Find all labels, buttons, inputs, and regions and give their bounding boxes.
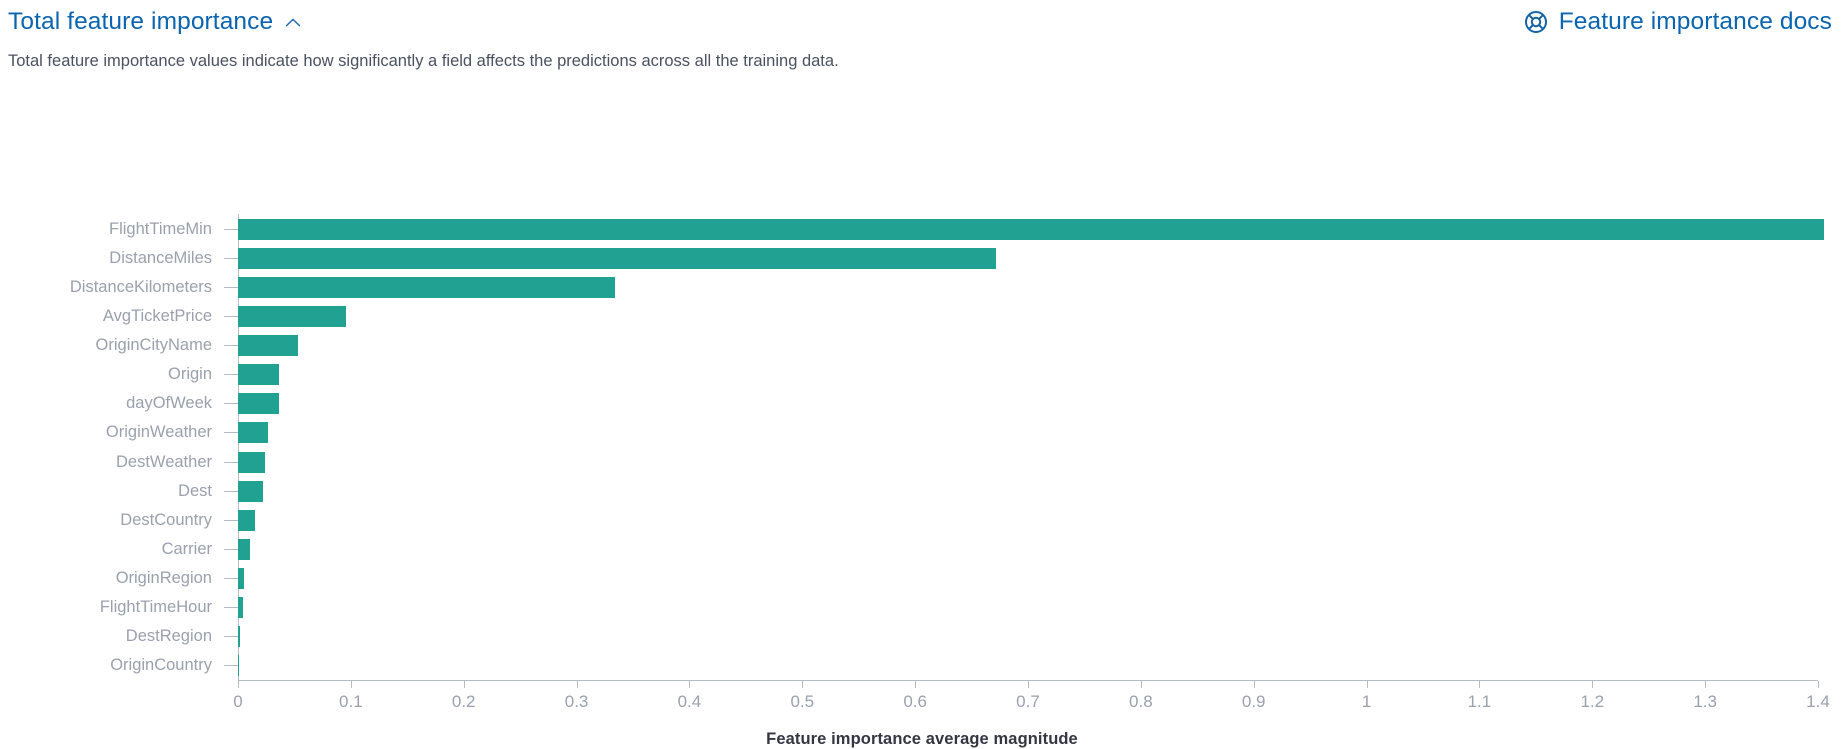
lifebuoy-icon (1524, 10, 1548, 34)
x-axis-tick-label: 0.1 (339, 692, 363, 712)
bar-row[interactable] (238, 331, 1818, 360)
y-axis-tick (224, 374, 238, 375)
y-axis-label: Origin (0, 365, 212, 383)
panel-description: Total feature importance values indicate… (0, 38, 1844, 72)
y-axis-label: DistanceKilometers (0, 278, 212, 296)
feature-importance-panel: Total feature importance Feature importa… (0, 0, 1844, 680)
bar-row[interactable] (238, 301, 1818, 330)
bar-row[interactable] (238, 476, 1818, 505)
bar-DistanceMiles[interactable] (238, 248, 996, 269)
bar-row[interactable] (238, 272, 1818, 301)
y-axis-tick (224, 636, 238, 637)
y-axis-label: FlightTimeHour (0, 598, 212, 616)
page-title: Total feature importance (8, 7, 273, 37)
y-axis-label: DestRegion (0, 627, 212, 645)
bar-row[interactable] (238, 564, 1818, 593)
panel-header: Total feature importance Feature importa… (0, 0, 1844, 38)
x-axis-tick (1254, 681, 1255, 688)
bar-OriginCountry[interactable] (238, 655, 239, 676)
feature-importance-docs-link[interactable]: Feature importance docs (1524, 7, 1836, 37)
x-axis-tick (1592, 681, 1593, 688)
x-axis-tick-label: 1.3 (1693, 692, 1717, 712)
x-axis-tick-label: 0 (233, 692, 242, 712)
y-axis-label: FlightTimeMin (0, 220, 212, 238)
x-axis-tick-label: 1.2 (1580, 692, 1604, 712)
bar-row[interactable] (238, 214, 1818, 243)
x-axis-tick (1705, 681, 1706, 688)
bar-DistanceKilometers[interactable] (238, 277, 615, 298)
y-axis-tick (224, 345, 238, 346)
x-axis-tick (915, 681, 916, 688)
bar-FlightTimeHour[interactable] (238, 597, 243, 618)
y-axis-label: DestCountry (0, 511, 212, 529)
bar-Carrier[interactable] (238, 539, 250, 560)
bar-row[interactable] (238, 389, 1818, 418)
bar-DestCountry[interactable] (238, 510, 255, 531)
bar-Dest[interactable] (238, 481, 263, 502)
bar-DestWeather[interactable] (238, 452, 265, 473)
bar-row[interactable] (238, 534, 1818, 563)
x-axis-tick (1141, 681, 1142, 688)
bar-OriginRegion[interactable] (238, 568, 244, 589)
y-axis-label: OriginRegion (0, 569, 212, 587)
bar-OriginWeather[interactable] (238, 422, 268, 443)
y-axis-ticks (224, 214, 238, 680)
x-axis-tick (1818, 681, 1819, 688)
y-axis-tick (224, 316, 238, 317)
bar-row[interactable] (238, 418, 1818, 447)
bar-row[interactable] (238, 593, 1818, 622)
bar-DestRegion[interactable] (238, 626, 240, 647)
feature-importance-chart: FlightTimeMinDistanceMilesDistanceKilome… (0, 92, 1844, 672)
x-axis-tick-label: 1.1 (1468, 692, 1492, 712)
x-axis-tick (577, 681, 578, 688)
x-axis-ticks: 00.10.20.30.40.50.60.70.80.911.11.21.31.… (0, 681, 1844, 721)
y-axis-tick (224, 549, 238, 550)
x-axis-tick (1028, 681, 1029, 688)
chevron-up-icon[interactable] (284, 14, 302, 32)
x-axis-tick-label: 0.7 (1016, 692, 1040, 712)
x-axis-tick (689, 681, 690, 688)
x-axis-tick (238, 681, 239, 688)
x-axis-title: Feature importance average magnitude (0, 730, 1844, 749)
x-axis-tick-label: 0.2 (452, 692, 476, 712)
y-axis-tick (224, 229, 238, 230)
x-axis-tick-label: 1 (1362, 692, 1371, 712)
y-axis-tick (224, 665, 238, 666)
bar-row[interactable] (238, 360, 1818, 389)
y-axis-label: Carrier (0, 540, 212, 558)
docs-link-label: Feature importance docs (1559, 7, 1832, 37)
x-axis-tick (802, 681, 803, 688)
bar-row[interactable] (238, 505, 1818, 534)
x-axis-tick-label: 0.6 (903, 692, 927, 712)
bar-row[interactable] (238, 243, 1818, 272)
y-axis-tick (224, 462, 238, 463)
bar-FlightTimeMin[interactable] (238, 219, 1824, 240)
y-axis-label: OriginWeather (0, 423, 212, 441)
y-axis-tick (224, 520, 238, 521)
y-axis-label: DistanceMiles (0, 249, 212, 267)
panel-title-toggle[interactable]: Total feature importance (8, 7, 302, 37)
x-axis-tick-label: 0.4 (678, 692, 702, 712)
x-axis-tick (464, 681, 465, 688)
y-axis-tick (224, 258, 238, 259)
y-axis-tick (224, 578, 238, 579)
y-axis-label: DestWeather (0, 453, 212, 471)
y-axis-label: Dest (0, 482, 212, 500)
y-axis-label: dayOfWeek (0, 394, 212, 412)
x-axis-tick (1367, 681, 1368, 688)
bars-container (238, 214, 1818, 680)
x-axis-tick-label: 1.4 (1806, 692, 1830, 712)
x-axis-tick-label: 0.8 (1129, 692, 1153, 712)
bar-dayOfWeek[interactable] (238, 393, 279, 414)
y-axis-tick (224, 432, 238, 433)
x-axis-tick-label: 0.9 (1242, 692, 1266, 712)
x-axis-tick-label: 0.5 (790, 692, 814, 712)
bar-AvgTicketPrice[interactable] (238, 306, 346, 327)
y-axis-labels: FlightTimeMinDistanceMilesDistanceKilome… (0, 214, 212, 680)
bar-row[interactable] (238, 651, 1818, 680)
bar-Origin[interactable] (238, 364, 279, 385)
y-axis-tick (224, 607, 238, 608)
y-axis-tick (224, 403, 238, 404)
bar-row[interactable] (238, 622, 1818, 651)
y-axis-label: AvgTicketPrice (0, 307, 212, 325)
bar-OriginCityName[interactable] (238, 335, 298, 356)
x-axis-tick (351, 681, 352, 688)
y-axis-label: OriginCountry (0, 656, 212, 674)
y-axis-label: OriginCityName (0, 336, 212, 354)
bar-row[interactable] (238, 447, 1818, 476)
y-axis-tick (224, 287, 238, 288)
y-axis-tick (224, 491, 238, 492)
x-axis-tick (1479, 681, 1480, 688)
x-axis-tick-label: 0.3 (565, 692, 589, 712)
